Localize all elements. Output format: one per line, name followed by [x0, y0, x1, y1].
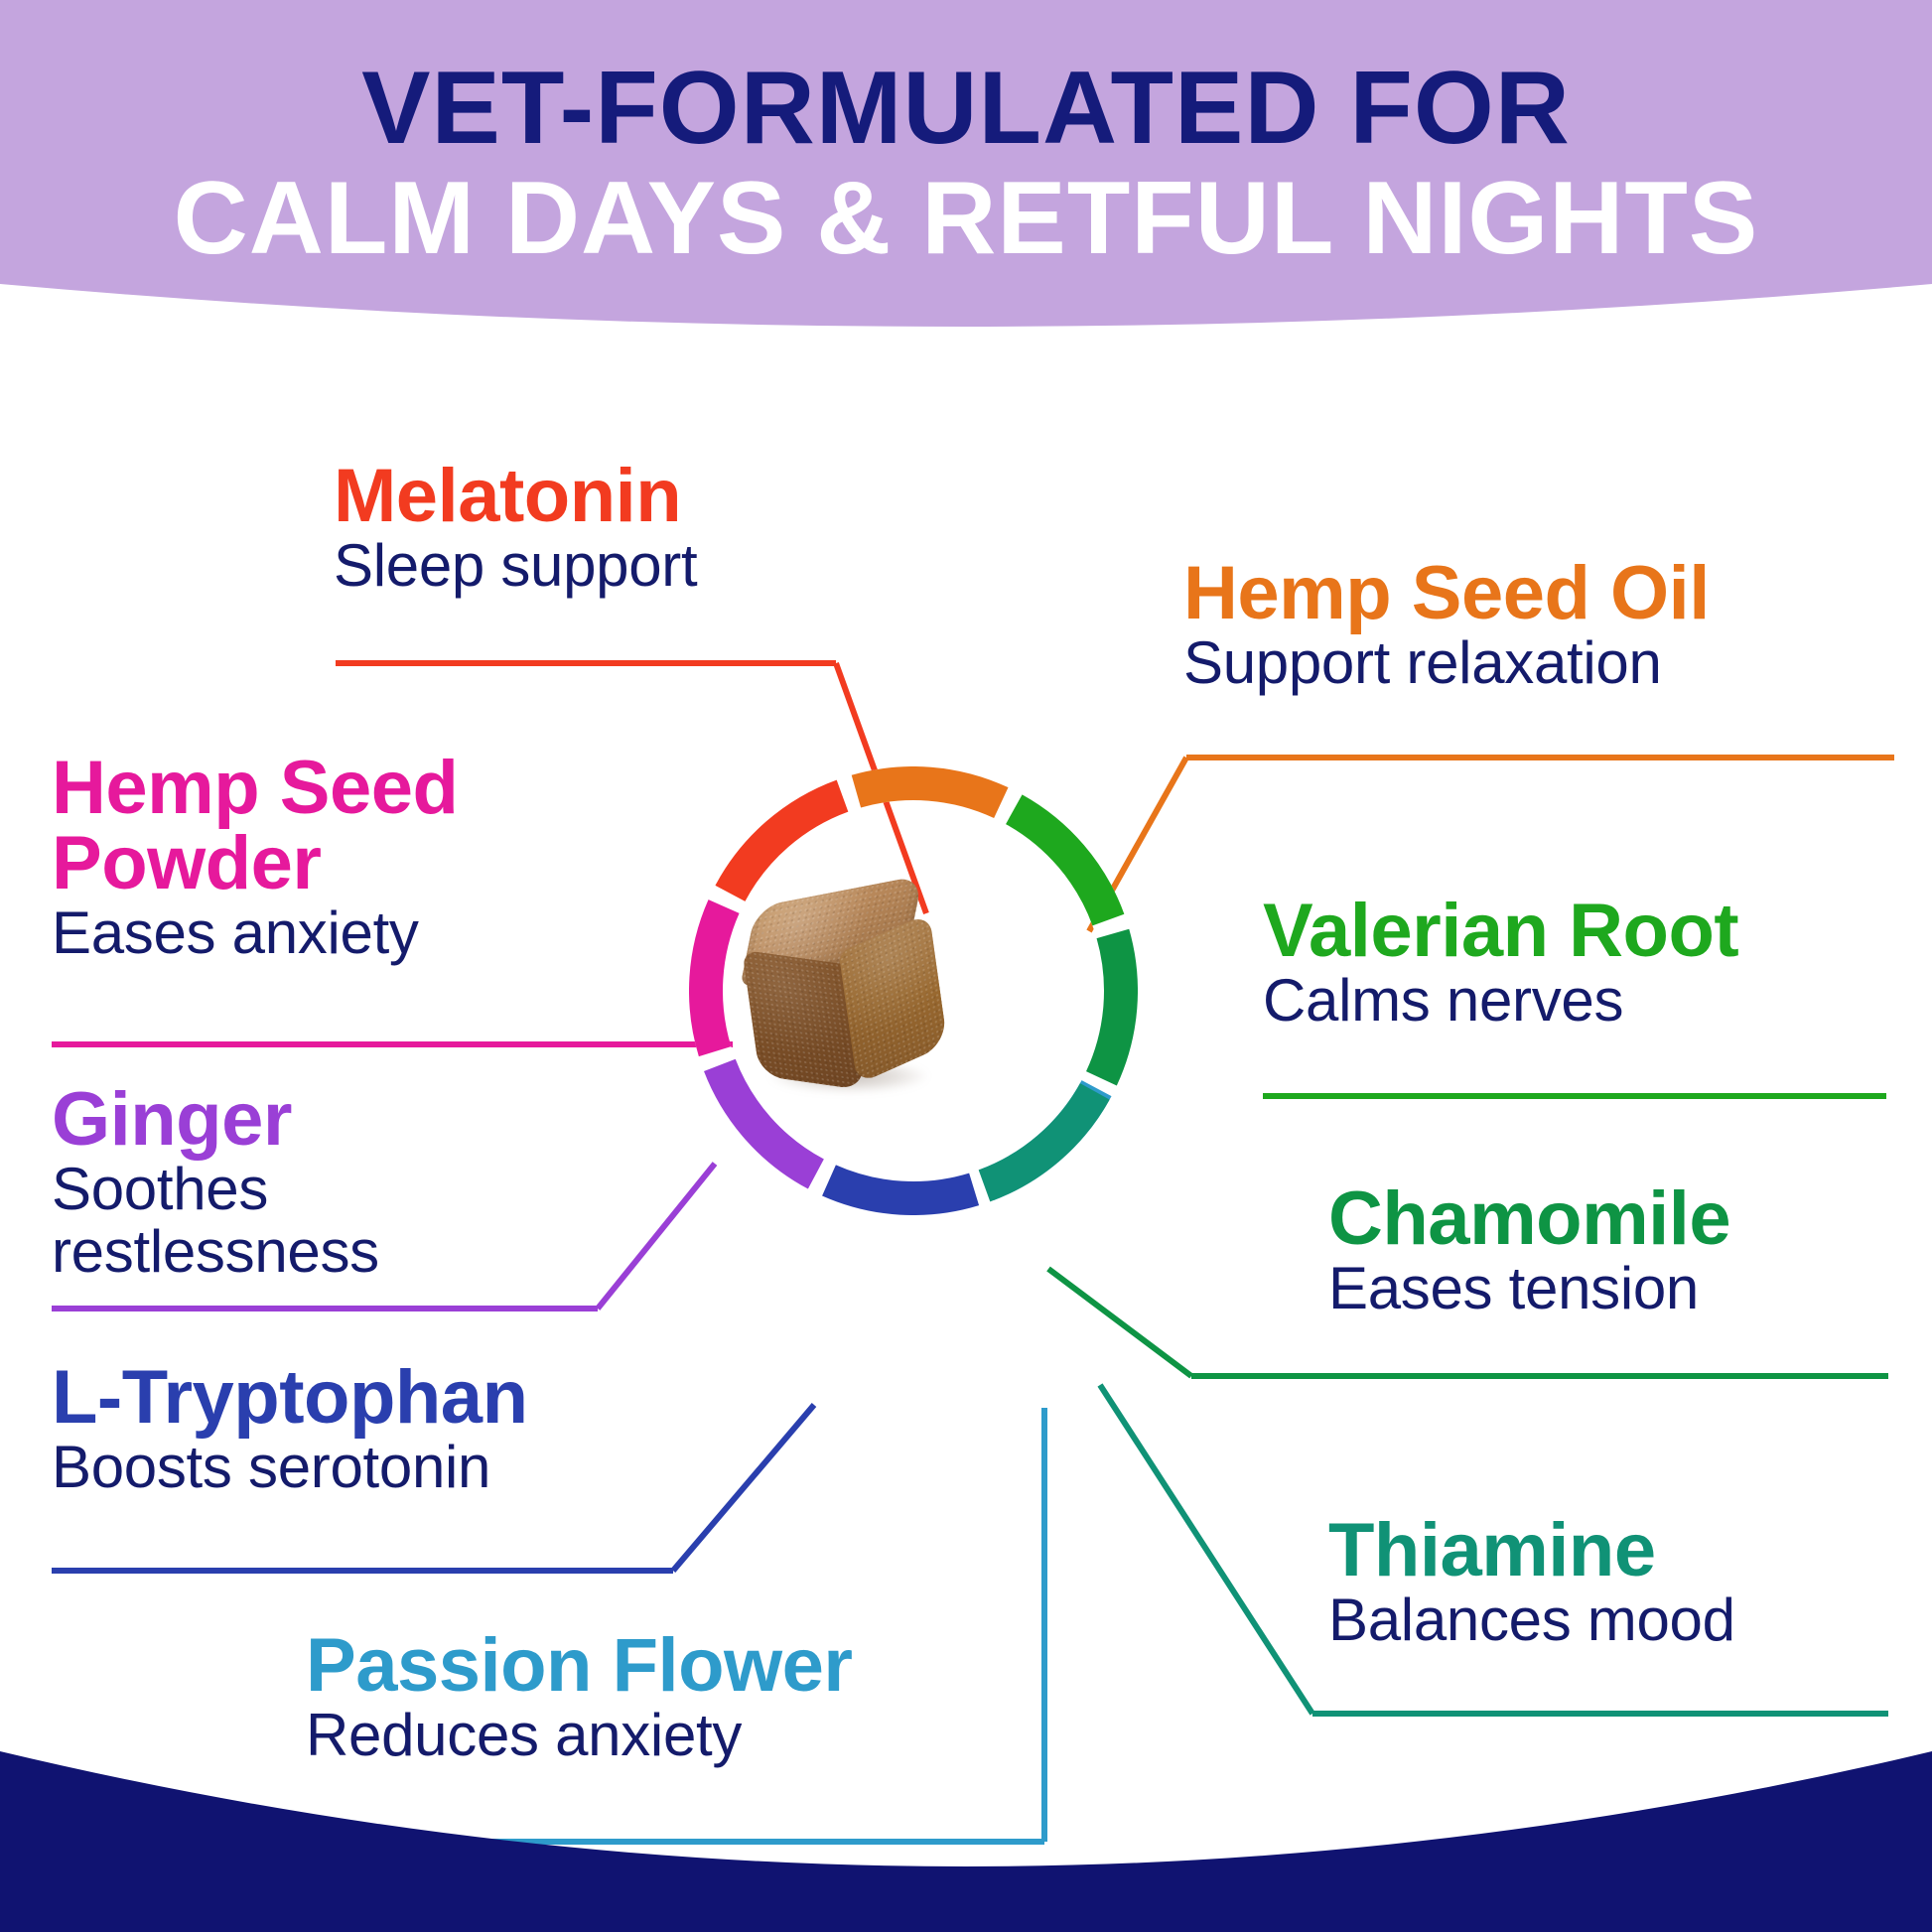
ring-segment-l-tryptophan — [829, 1180, 974, 1198]
ingredient-benefit-thiamine: Balances mood — [1328, 1588, 1932, 1651]
ingredient-benefit-ginger: Soothes restlessness — [52, 1158, 469, 1283]
ingredient-name-chamomile: Chamomile — [1328, 1181, 1932, 1257]
ingredient-benefit-hemp-seed-oil: Support relaxation — [1183, 631, 1932, 694]
header-text-block: VET-FORMULATED FOR CALM DAYS & RETFUL NI… — [0, 0, 1932, 328]
label-valerian-root: Valerian Root Calms nerves — [1263, 894, 1932, 1032]
label-chamomile: Chamomile Eases tension — [1328, 1181, 1932, 1319]
ring-segment-chamomile — [1101, 933, 1121, 1078]
infographic-canvas: VET-FORMULATED FOR CALM DAYS & RETFUL NI… — [0, 0, 1932, 1932]
label-thiamine: Thiamine Balances mood — [1328, 1513, 1932, 1651]
label-ginger: Ginger Soothes restlessness — [52, 1082, 608, 1283]
header-line-1: VET-FORMULATED FOR — [361, 56, 1571, 162]
ring-segment-melatonin — [730, 796, 842, 894]
label-hemp-seed-oil: Hemp Seed Oil Support relaxation — [1183, 556, 1932, 694]
ingredient-benefit-l-tryptophan: Boosts serotonin — [52, 1436, 766, 1498]
label-l-tryptophan: L-Tryptophan Boosts serotonin — [52, 1360, 766, 1498]
ingredient-name-hemp-seed-powder: Hemp Seed Powder — [52, 751, 647, 901]
ingredient-name-melatonin: Melatonin — [334, 459, 949, 534]
ingredient-name-hemp-seed-oil: Hemp Seed Oil — [1183, 556, 1932, 631]
ingredient-benefit-hemp-seed-powder: Eases anxiety — [52, 901, 647, 964]
ingredient-name-ginger: Ginger — [52, 1082, 608, 1158]
header-banner: VET-FORMULATED FOR CALM DAYS & RETFUL NI… — [0, 0, 1932, 377]
ingredient-benefit-melatonin: Sleep support — [334, 534, 949, 597]
footer-background-shape — [0, 1664, 1932, 1932]
header-line-2: CALM DAYS & RETFUL NIGHTS — [174, 166, 1759, 272]
gummy-cube — [732, 875, 966, 1105]
ring-segment-thiamine — [984, 1091, 1094, 1185]
ring-segment-hemp-seed-powder — [706, 906, 724, 1051]
ingredient-benefit-chamomile: Eases tension — [1328, 1257, 1932, 1319]
ingredient-name-l-tryptophan: L-Tryptophan — [52, 1360, 766, 1436]
ingredient-name-valerian-root: Valerian Root — [1263, 894, 1932, 969]
ingredient-name-thiamine: Thiamine — [1328, 1513, 1932, 1588]
label-hemp-seed-powder: Hemp Seed Powder Eases anxiety — [52, 751, 647, 964]
ring-segment-hemp-seed-oil — [856, 783, 1001, 803]
ingredient-benefit-valerian-root: Calms nerves — [1263, 969, 1932, 1032]
label-melatonin: Melatonin Sleep support — [334, 459, 949, 597]
gummy-product-image — [735, 889, 963, 1117]
ring-segment-valerian-root — [1014, 809, 1108, 919]
footer-banner — [0, 1664, 1932, 1932]
